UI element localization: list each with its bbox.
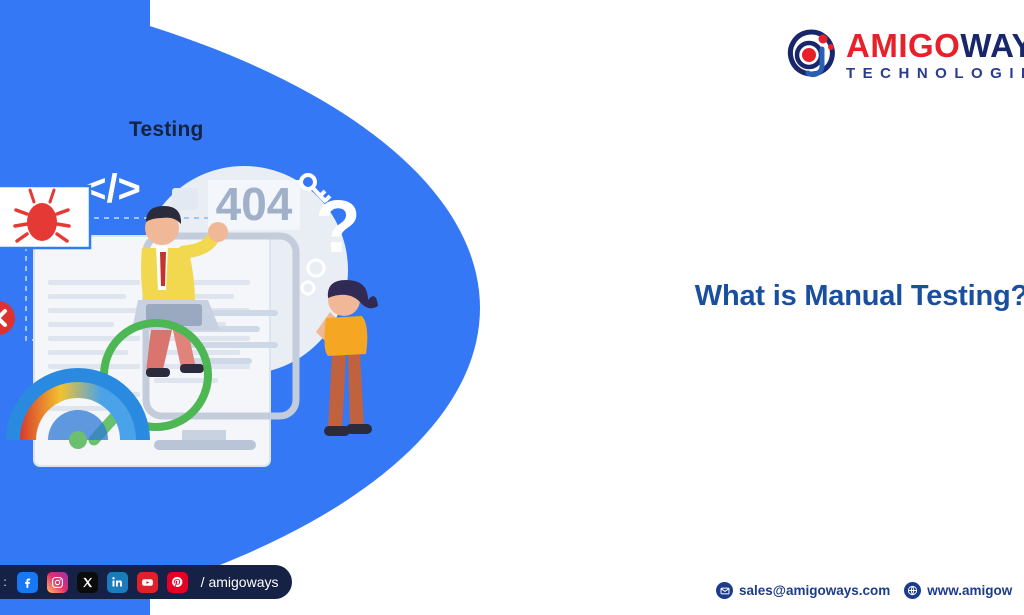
bug-alert-card xyxy=(0,186,90,248)
page-title: What is Manual Testing? xyxy=(558,280,1024,313)
brand-tagline: TECHNOLOGIES xyxy=(846,66,1024,81)
red-x-circle-icon xyxy=(0,301,15,335)
lock-icon xyxy=(172,188,198,210)
manual-testing-illustration: 404 </> ? xyxy=(0,140,406,470)
error-code-text: 404 xyxy=(216,178,293,230)
amigoways-atom-logo-icon xyxy=(784,27,840,83)
code-brackets-icon: </> xyxy=(83,167,141,211)
linkedin-icon[interactable] xyxy=(107,572,128,593)
contact-email[interactable]: sales@amigoways.com xyxy=(716,582,890,599)
globe-icon xyxy=(904,582,921,599)
youtube-icon[interactable] xyxy=(137,572,158,593)
website-text: www.amigow xyxy=(927,583,1012,598)
email-text: sales@amigoways.com xyxy=(739,583,890,598)
x-twitter-icon[interactable] xyxy=(77,572,98,593)
question-mark-icon: ? xyxy=(315,185,360,268)
brand-name-amigo: AMIGO xyxy=(846,27,960,64)
instagram-icon[interactable] xyxy=(47,572,68,593)
monitor-base xyxy=(154,440,256,450)
slide-canvas: Testing xyxy=(0,0,1024,615)
brand-name-ways: WAYS xyxy=(960,27,1024,64)
brand-logo[interactable]: AMIGOWAYS TECHNOLOGIES xyxy=(784,22,1024,88)
facebook-icon[interactable] xyxy=(17,572,38,593)
social-label: s : xyxy=(0,575,7,589)
social-links-bar: s : / amigoways xyxy=(0,565,292,599)
brand-name: AMIGOWAYS xyxy=(846,29,1024,62)
envelope-icon xyxy=(716,582,733,599)
footer-contact-info: sales@amigoways.com www.amigow xyxy=(716,582,1012,599)
contact-website[interactable]: www.amigow xyxy=(904,582,1012,599)
social-handle[interactable]: / amigoways xyxy=(201,574,279,590)
category-label: Testing xyxy=(129,118,204,142)
pinterest-icon[interactable] xyxy=(167,572,188,593)
